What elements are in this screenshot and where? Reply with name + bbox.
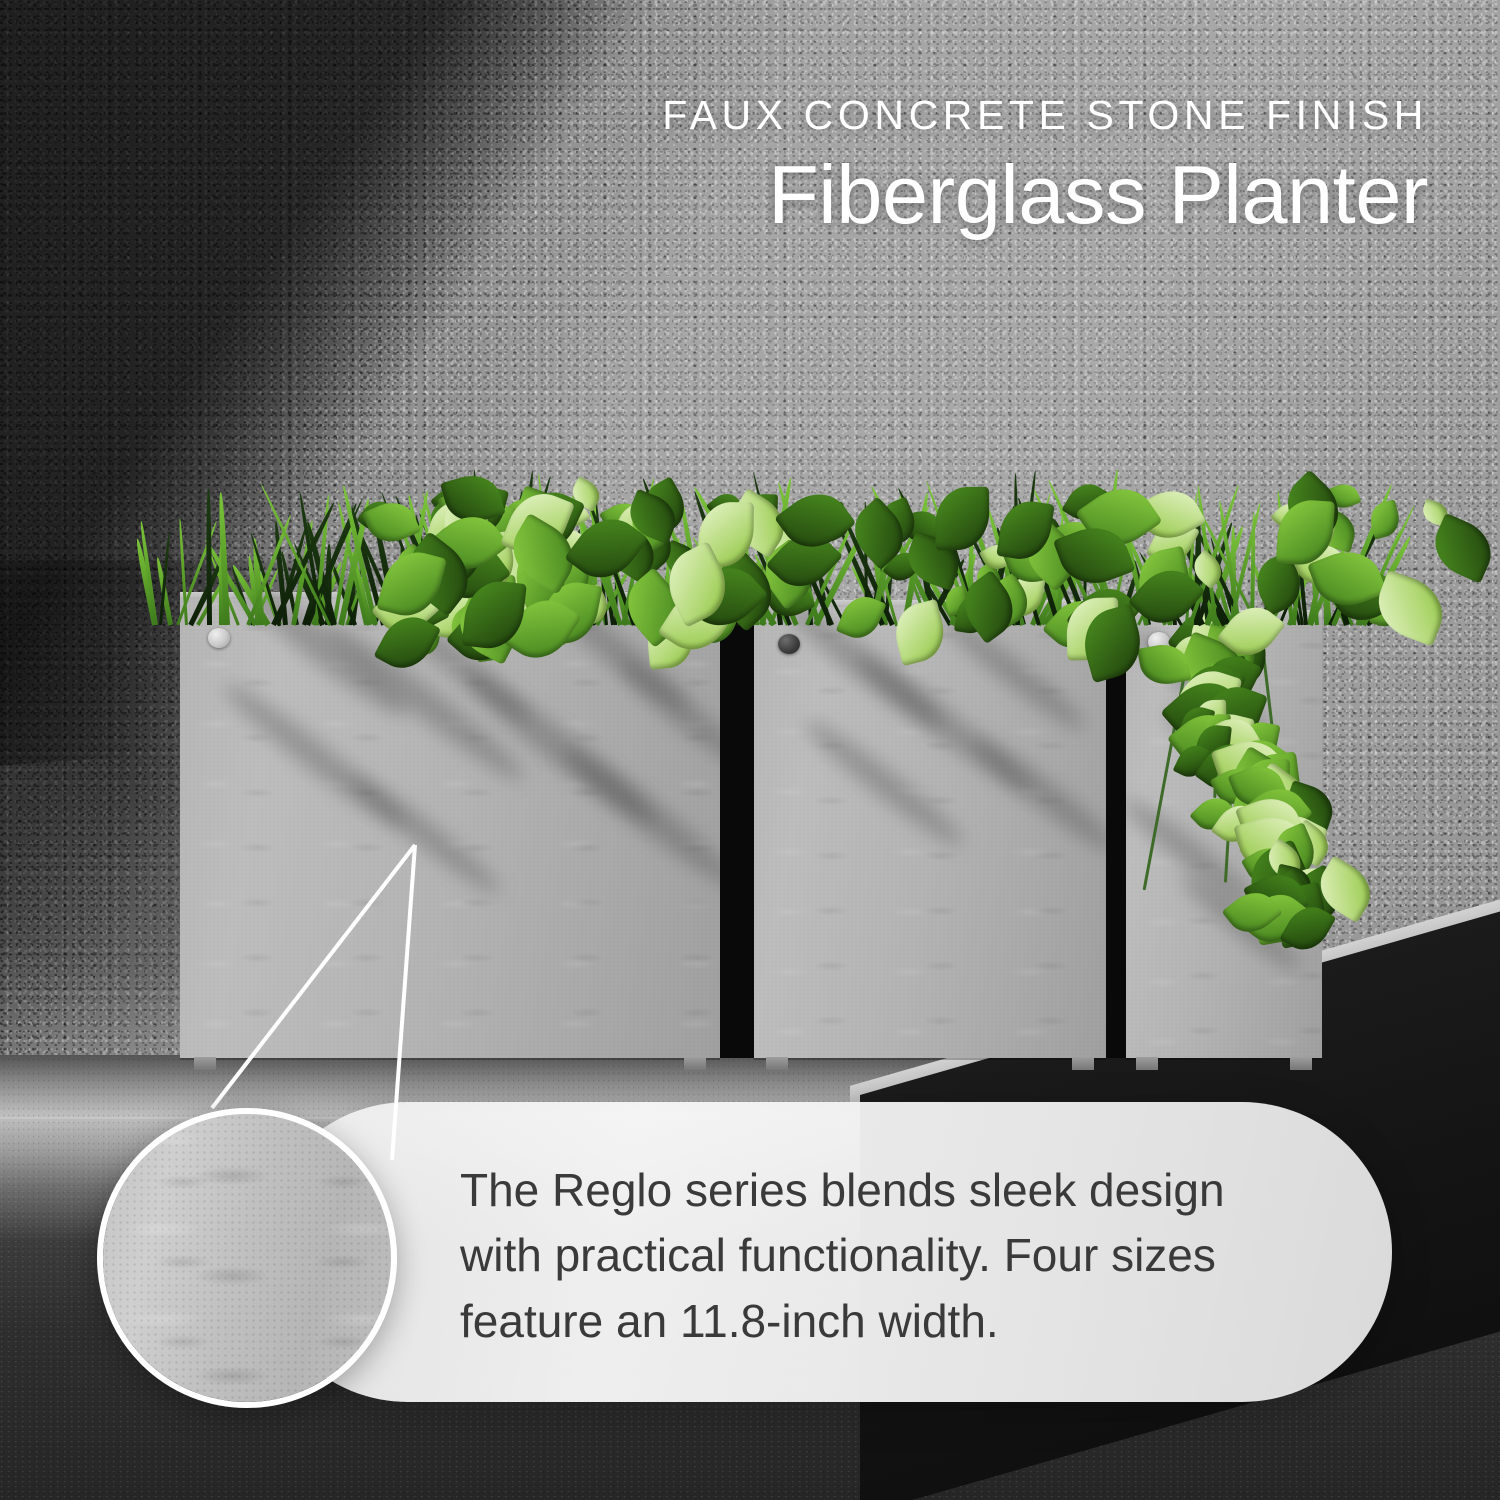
planter-large-left[interactable] (180, 592, 720, 1058)
planter-foot (1072, 1057, 1094, 1070)
magnifier-circle[interactable] (97, 1108, 397, 1408)
magnifier-texture-detail (103, 1114, 391, 1402)
page-title: Fiberglass Planter (662, 148, 1428, 243)
planter-leaf-shadows (754, 600, 1106, 1058)
planter-medium-center[interactable] (754, 600, 1106, 1058)
planter-foot (194, 1057, 216, 1070)
planter-gap (718, 600, 754, 1058)
planter-foot (1136, 1057, 1158, 1070)
grass-blade (206, 489, 212, 625)
planter-foot (766, 1057, 788, 1070)
drainage-plug-icon (208, 628, 230, 648)
planter-foot (684, 1057, 706, 1070)
planter-leaf-shadows (180, 592, 720, 1058)
caption-text: The Reglo series blends sleek design wit… (460, 1158, 1290, 1354)
magnifier-content (103, 1114, 391, 1402)
headline-kicker: FAUX CONCRETE STONE FINISH (662, 95, 1428, 136)
product-marketing-image: FAUX CONCRETE STONE FINISH Fiberglass Pl… (0, 0, 1500, 1500)
drainage-plug-icon (778, 634, 800, 654)
planter-foot (1290, 1057, 1312, 1070)
headline-block: FAUX CONCRETE STONE FINISH Fiberglass Pl… (662, 95, 1428, 243)
